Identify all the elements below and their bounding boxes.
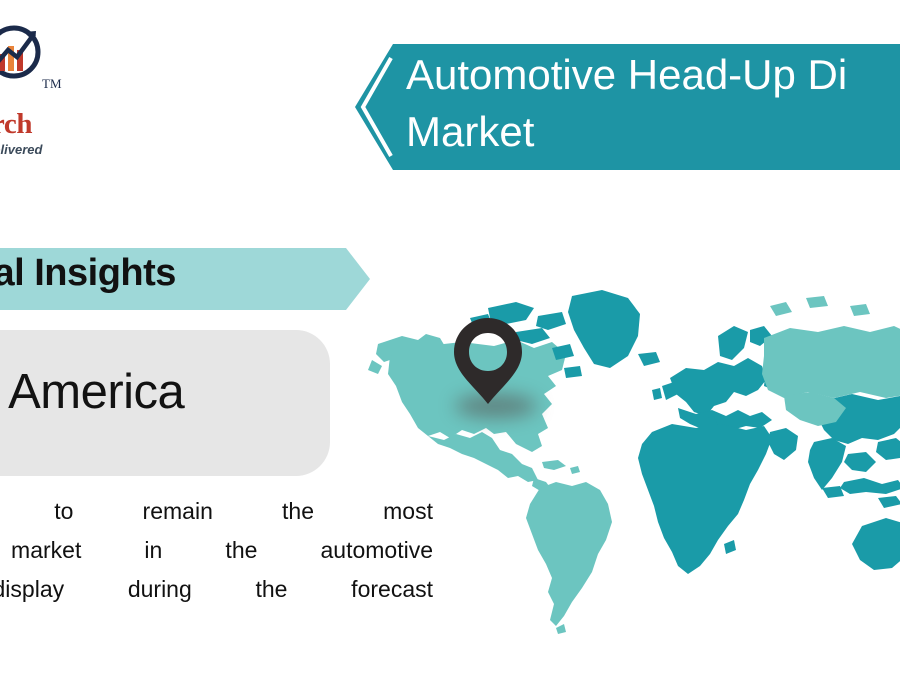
page-title: Automotive Head-Up Di Market bbox=[406, 46, 900, 160]
region-name: rth America bbox=[0, 364, 184, 420]
world-map-svg bbox=[366, 282, 900, 640]
page-title-line-1: Automotive Head-Up Di bbox=[406, 51, 847, 98]
brand-logo[interactable]: ew TM esearch sights Delivered bbox=[0, 20, 102, 150]
page-title-line-2: Market bbox=[406, 103, 900, 160]
trademark-symbol: TM bbox=[42, 76, 62, 92]
logo-tagline: sights Delivered bbox=[0, 142, 42, 157]
world-map[interactable] bbox=[366, 282, 900, 640]
map-pin-icon[interactable] bbox=[452, 316, 524, 406]
logo-wordmark-secondary: esearch bbox=[0, 108, 32, 141]
growth-chart-logo-icon bbox=[0, 24, 42, 80]
chevron-left-icon bbox=[359, 56, 393, 158]
regional-insights-label: ional Insights bbox=[0, 252, 176, 295]
